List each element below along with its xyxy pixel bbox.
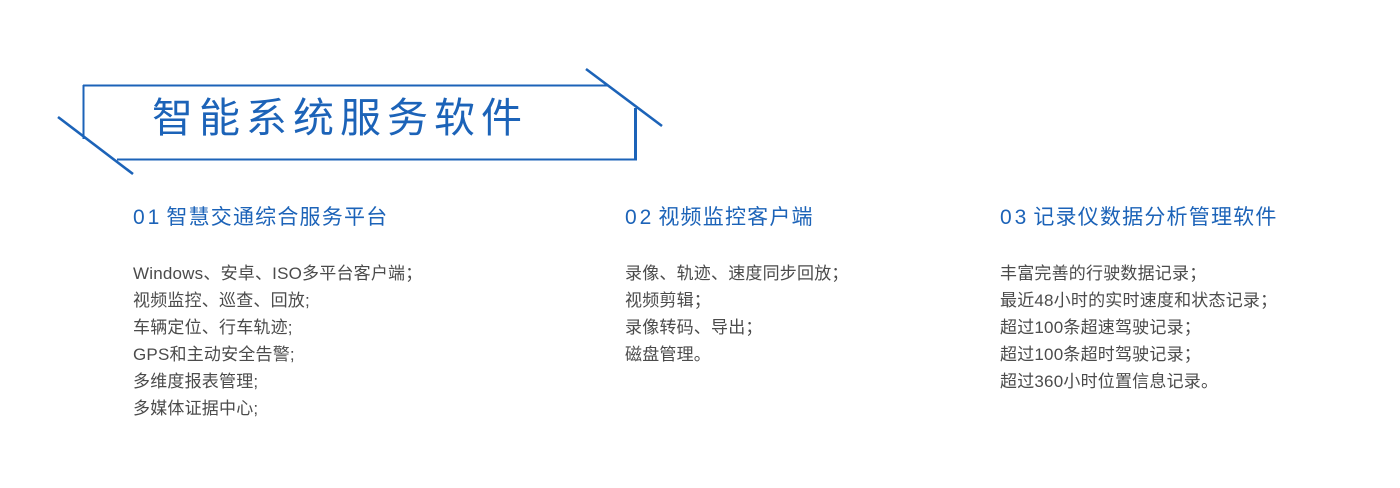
feature-list-01: Windows、安卓、ISO多平台客户端； 视频监控、巡查、回放; 车辆定位、行… [133,260,603,422]
list-item: 车辆定位、行车轨迹; [133,314,603,341]
banner-diagonal-bottom-left [58,117,133,174]
title-banner: 智能系统服务软件 [0,0,760,200]
feature-title-03: 记录仪数据分析管理软件 [1033,206,1277,229]
feature-column-02: 02视频监控客户端 录像、轨迹、速度同步回放； 视频剪辑； 录像转码、导出； 磁… [625,203,975,368]
list-item: 超过100条超时驾驶记录； [1000,341,1390,368]
feature-list-03: 丰富完善的行驶数据记录； 最近48小时的实时速度和状态记录； 超过100条超速驾… [1000,260,1390,395]
slide-root: 智能系统服务软件 01智慧交通综合服务平台 Windows、安卓、ISO多平台客… [0,0,1400,488]
feature-heading-03: 03记录仪数据分析管理软件 [1000,203,1390,233]
list-item: 多维度报表管理; [133,368,603,395]
feature-title-01: 智慧交通综合服务平台 [166,206,388,229]
feature-list-02: 录像、轨迹、速度同步回放； 视频剪辑； 录像转码、导出； 磁盘管理。 [625,260,975,368]
banner-diagonal-top-right [586,69,662,126]
feature-number-01: 01 [133,206,162,229]
feature-column-03: 03记录仪数据分析管理软件 丰富完善的行驶数据记录； 最近48小时的实时速度和状… [1000,203,1390,395]
feature-heading-01: 01智慧交通综合服务平台 [133,203,603,233]
list-item: 视频监控、巡查、回放; [133,287,603,314]
list-item: 视频剪辑； [625,287,975,314]
banner-title: 智能系统服务软件 [152,94,528,142]
list-item: 多媒体证据中心; [133,395,603,422]
list-item: 超过360小时位置信息记录。 [1000,368,1390,395]
banner-frame-graphic [0,0,760,200]
list-item: 丰富完善的行驶数据记录； [1000,260,1390,287]
list-item: 磁盘管理。 [625,341,975,368]
feature-title-02: 视频监控客户端 [658,206,813,229]
list-item: GPS和主动安全告警; [133,341,603,368]
list-item: Windows、安卓、ISO多平台客户端； [133,260,603,287]
list-item: 录像转码、导出； [625,314,975,341]
feature-number-03: 03 [1000,206,1029,229]
list-item: 录像、轨迹、速度同步回放； [625,260,975,287]
list-item: 超过100条超速驾驶记录； [1000,314,1390,341]
feature-column-01: 01智慧交通综合服务平台 Windows、安卓、ISO多平台客户端； 视频监控、… [133,203,603,422]
list-item: 最近48小时的实时速度和状态记录； [1000,287,1390,314]
feature-number-02: 02 [625,206,654,229]
feature-heading-02: 02视频监控客户端 [625,203,975,233]
